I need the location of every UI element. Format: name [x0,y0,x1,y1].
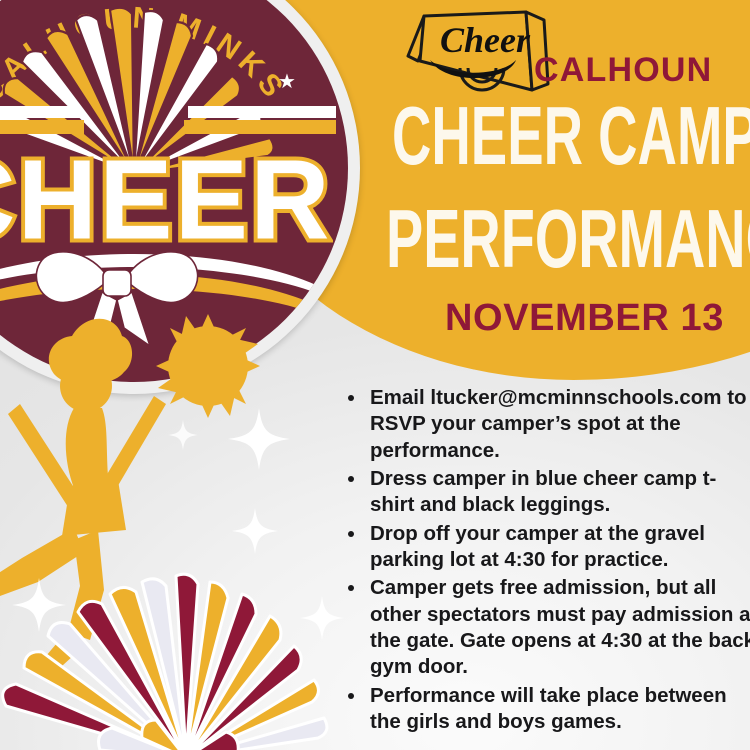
banner-bar-gold-right [184,120,336,134]
sparkle-icon [228,408,290,470]
list-item: Camper gets free admission, but all othe… [367,575,750,680]
sparkle-icon [12,578,66,632]
logo-wordmark-text: CHEER [0,142,332,256]
list-item: Performance will take place between the … [367,683,750,736]
kicker-calhoun: CALHOUN [534,51,712,90]
list-item: Email ltucker@mcminnschools.com to RSVP … [367,385,750,464]
logo-wordmark: CHEER [0,150,311,248]
event-date: NOVEMBER 13 [445,297,724,340]
details-list: Email ltucker@mcminnschools.com to RSVP … [345,385,750,737]
sparkle-icon [300,596,344,640]
banner-bar-gold-left [0,120,84,134]
poster-canvas: CALHOUN MINKS [0,0,750,750]
sparkle-icon [232,508,278,554]
page-title: CHEER CAMP PERFORMANCE [392,108,742,268]
list-item: Dress camper in blue cheer camp t-shirt … [367,466,750,519]
banner-bar-white-left [0,106,80,118]
list-item: Drop off your camper at the gravel parki… [367,521,750,574]
sparkle-icon [168,420,198,450]
headline-line-2: PERFORMANCE [386,202,706,278]
headline-line-1: CHEER CAMP [392,99,700,175]
megaphone-script-label: Cheer [440,20,531,60]
banner-bar-white-right [188,106,336,118]
logo-star-right-icon: ★ [278,72,296,92]
